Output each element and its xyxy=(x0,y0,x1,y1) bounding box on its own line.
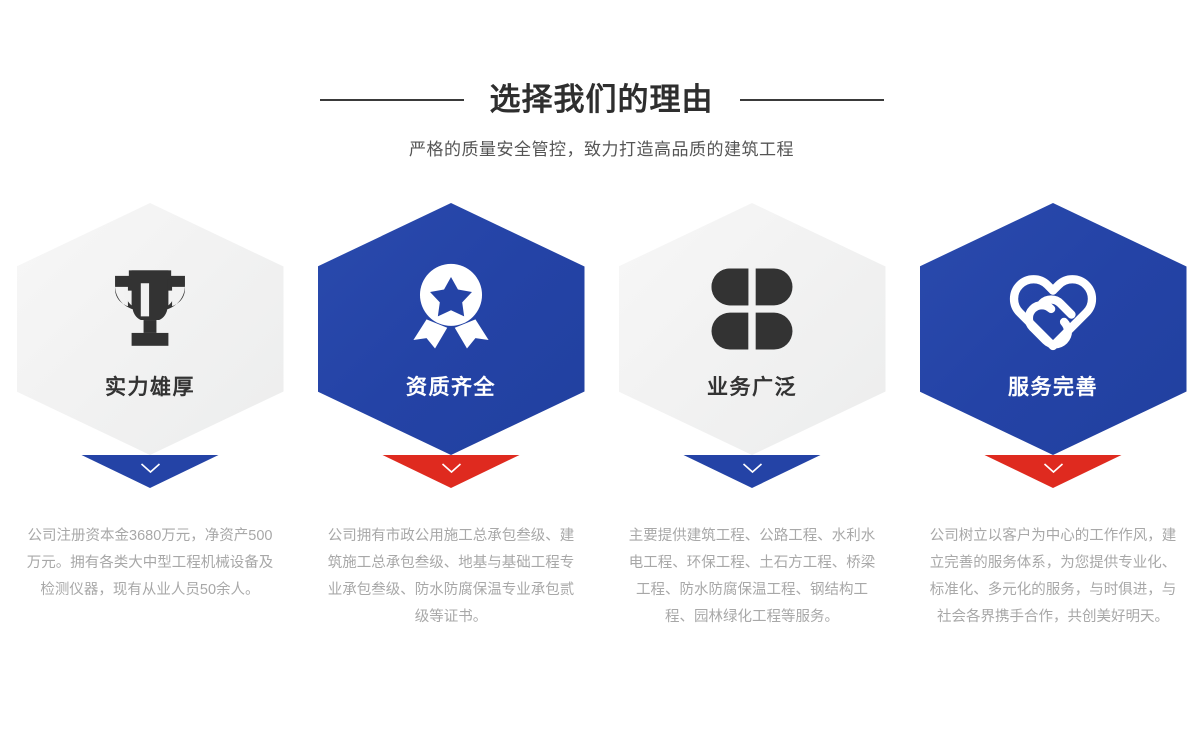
feature-card-description: 公司注册资本金3680万元，净资产500万元。拥有各类大中型工程机械设备及检测仪… xyxy=(25,523,275,604)
section-header: 选择我们的理由 严格的质量安全管控，致力打造高品质的建筑工程 xyxy=(0,78,1203,160)
four-petal-clover-icon xyxy=(704,259,800,359)
feature-card-title: 业务广泛 xyxy=(707,371,797,401)
card-pointer-arrow[interactable] xyxy=(383,455,520,488)
medal-award-icon xyxy=(403,259,499,359)
hexagon-badge[interactable]: 服务完善 xyxy=(920,203,1187,488)
hexagon-shape: 资质齐全 xyxy=(318,203,585,455)
feature-card[interactable]: 服务完善 公司树立以客户为中心的工作作风，建立完善的服务体系，为您提供专业化、标… xyxy=(903,203,1203,631)
title-rule-right xyxy=(740,99,884,101)
hexagon-badge[interactable]: 资质齐全 xyxy=(318,203,585,488)
feature-card[interactable]: 业务广泛 主要提供建筑工程、公路工程、水利水电工程、环保工程、土石方工程、桥梁工… xyxy=(602,203,902,631)
page-subtitle: 严格的质量安全管控，致力打造高品质的建筑工程 xyxy=(0,135,1203,160)
hexagon-shape: 服务完善 xyxy=(920,203,1187,455)
title-rule-left xyxy=(320,99,464,101)
interlocking-hearts-icon xyxy=(1005,259,1101,359)
card-pointer-arrow[interactable] xyxy=(82,455,219,488)
feature-card-title: 资质齐全 xyxy=(406,371,496,401)
feature-card-description: 主要提供建筑工程、公路工程、水利水电工程、环保工程、土石方工程、桥梁工程、防水防… xyxy=(627,523,877,631)
feature-card-list: 实力雄厚 公司注册资本金3680万元，净资产500万元。拥有各类大中型工程机械设… xyxy=(0,203,1203,631)
trophy-icon xyxy=(102,259,198,359)
feature-card[interactable]: 资质齐全 公司拥有市政公用施工总承包叁级、建筑施工总承包叁级、地基与基础工程专业… xyxy=(301,203,601,631)
hexagon-shape: 实力雄厚 xyxy=(17,203,284,455)
feature-card[interactable]: 实力雄厚 公司注册资本金3680万元，净资产500万元。拥有各类大中型工程机械设… xyxy=(0,203,300,631)
hexagon-badge[interactable]: 实力雄厚 xyxy=(17,203,284,488)
page-title: 选择我们的理由 xyxy=(490,80,714,120)
feature-card-title: 服务完善 xyxy=(1008,371,1098,401)
feature-card-description: 公司树立以客户为中心的工作作风，建立完善的服务体系，为您提供专业化、标准化、多元… xyxy=(928,523,1178,631)
feature-card-title: 实力雄厚 xyxy=(105,371,195,401)
hexagon-badge[interactable]: 业务广泛 xyxy=(619,203,886,488)
feature-card-description: 公司拥有市政公用施工总承包叁级、建筑施工总承包叁级、地基与基础工程专业承包叁级、… xyxy=(326,523,576,631)
page-root: { "header": { "title": "选择我们的理由", "subti… xyxy=(0,0,1203,736)
title-row: 选择我们的理由 xyxy=(0,78,1203,122)
card-pointer-arrow[interactable] xyxy=(684,455,821,488)
card-pointer-arrow[interactable] xyxy=(985,455,1122,488)
hexagon-shape: 业务广泛 xyxy=(619,203,886,455)
